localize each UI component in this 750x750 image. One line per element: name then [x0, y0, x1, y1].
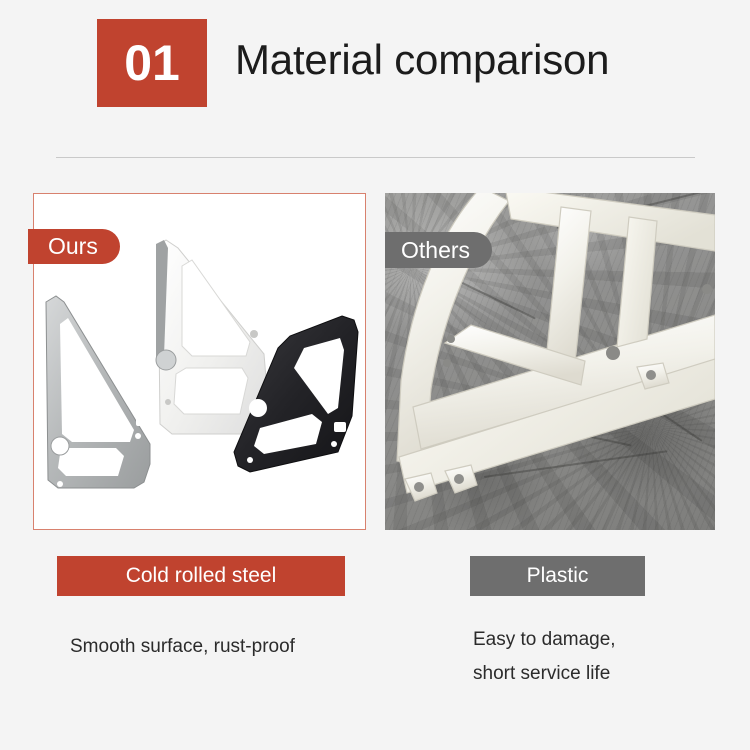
black-steel-bracket [230, 312, 364, 492]
section-number-badge: 01 [97, 19, 207, 107]
page-root: 01 Material comparison [0, 0, 750, 750]
section-number: 01 [124, 38, 180, 88]
others-description-line-2: short service life [473, 657, 616, 691]
header-divider [56, 157, 695, 158]
page-title: Material comparison [235, 36, 609, 84]
ours-tag: Ours [28, 229, 120, 264]
plastic-label: Plastic [470, 556, 645, 596]
cold-rolled-steel-label: Cold rolled steel [57, 556, 345, 596]
others-tag: Others [385, 232, 492, 268]
gray-steel-bracket [38, 292, 158, 502]
ours-description: Smooth surface, rust-proof [70, 630, 295, 664]
others-description-line-1: Easy to damage, [473, 623, 616, 657]
others-description: Easy to damage, short service life [473, 623, 616, 691]
